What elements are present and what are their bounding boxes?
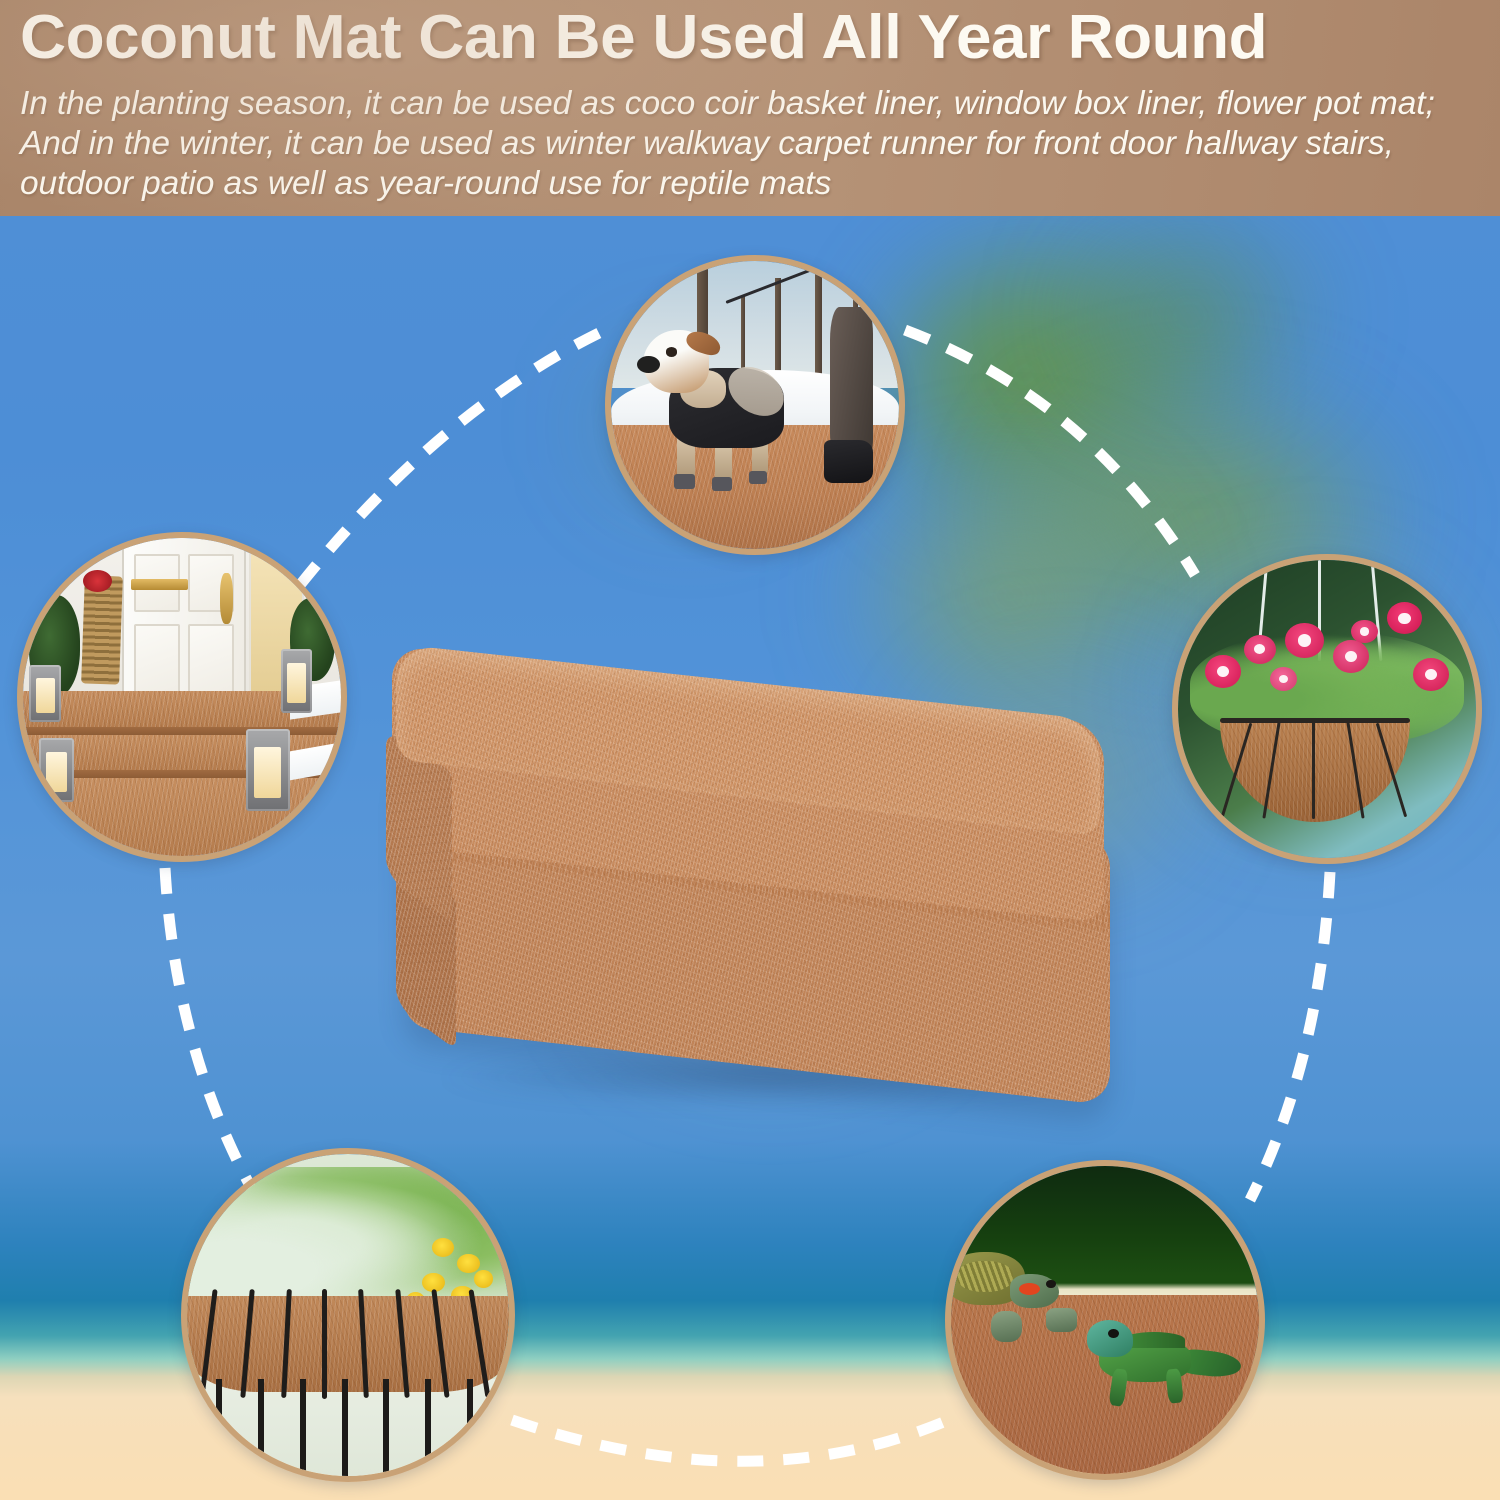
turtle-leg xyxy=(991,1311,1022,1342)
palm-foliage-blur-icon xyxy=(880,226,1240,556)
lantern-icon xyxy=(246,729,291,812)
yellow-flower-icon xyxy=(474,1270,493,1288)
window-box-wire-rib xyxy=(322,1289,327,1398)
palm-foliage-blur-icon xyxy=(1040,216,1340,436)
railing-bar xyxy=(258,1379,264,1476)
door-panel xyxy=(134,624,179,698)
dog-boot xyxy=(749,471,766,484)
person-leg xyxy=(830,307,873,457)
use-case-photo-window-box[interactable] xyxy=(181,1148,515,1482)
lantern-icon xyxy=(281,649,313,713)
railing-bar xyxy=(216,1379,222,1476)
railing-bar xyxy=(383,1379,389,1476)
turtle-eye xyxy=(1046,1280,1055,1288)
stair-riser xyxy=(23,727,341,735)
page-title: Coconut Mat Can Be Used All Year Round xyxy=(20,5,1500,71)
use-case-photo-front-door-stairs[interactable] xyxy=(17,532,347,862)
mail-slot-icon xyxy=(131,579,188,590)
lizard-dorsal-crest xyxy=(1123,1332,1185,1347)
use-case-photo-reptile-mat[interactable] xyxy=(945,1160,1265,1480)
dog-eye xyxy=(666,347,678,356)
pink-flower-icon xyxy=(1333,640,1369,673)
basket-rim xyxy=(1220,718,1411,723)
railing-bar xyxy=(300,1379,306,1476)
lantern-icon xyxy=(39,738,74,802)
person-boot xyxy=(824,440,873,483)
pink-flower-icon xyxy=(1205,655,1241,688)
infographic-canvas: Coconut Mat Can Be Used All Year Round I… xyxy=(0,0,1500,1500)
railing-backdrop xyxy=(187,1379,509,1476)
coco-coir-window-box-liner xyxy=(187,1296,509,1393)
product-folded-coconut-mat xyxy=(382,678,1152,1128)
railing-bar xyxy=(342,1379,348,1476)
yellow-flower-icon xyxy=(457,1254,480,1273)
red-bow-icon xyxy=(83,570,112,592)
dog-boot xyxy=(712,477,732,491)
header-description: In the planting season, it can be used a… xyxy=(20,84,1482,204)
yellow-flower-icon xyxy=(432,1238,455,1257)
turtle-shell-pattern xyxy=(957,1261,1012,1292)
lantern-icon xyxy=(29,665,61,722)
header-band: Coconut Mat Can Be Used All Year Round I… xyxy=(0,0,1500,216)
door-handle-icon xyxy=(220,573,233,624)
turtle-foot xyxy=(1046,1308,1077,1333)
door-panel xyxy=(188,624,233,698)
pink-flower-icon xyxy=(1351,620,1378,644)
lizard-eye xyxy=(1108,1329,1118,1338)
basket-wire-rib xyxy=(1312,721,1315,819)
pink-flower-icon xyxy=(1285,623,1324,659)
pink-flower-icon xyxy=(1413,658,1449,691)
use-case-photo-dog-winter-walkway[interactable] xyxy=(605,255,905,555)
railing-bar xyxy=(425,1379,431,1476)
decorative-sled xyxy=(82,576,124,685)
dog-boot xyxy=(674,474,694,488)
lizard-head xyxy=(1087,1320,1133,1357)
railing-bar xyxy=(467,1379,473,1476)
use-case-photo-hanging-basket[interactable] xyxy=(1172,554,1482,864)
